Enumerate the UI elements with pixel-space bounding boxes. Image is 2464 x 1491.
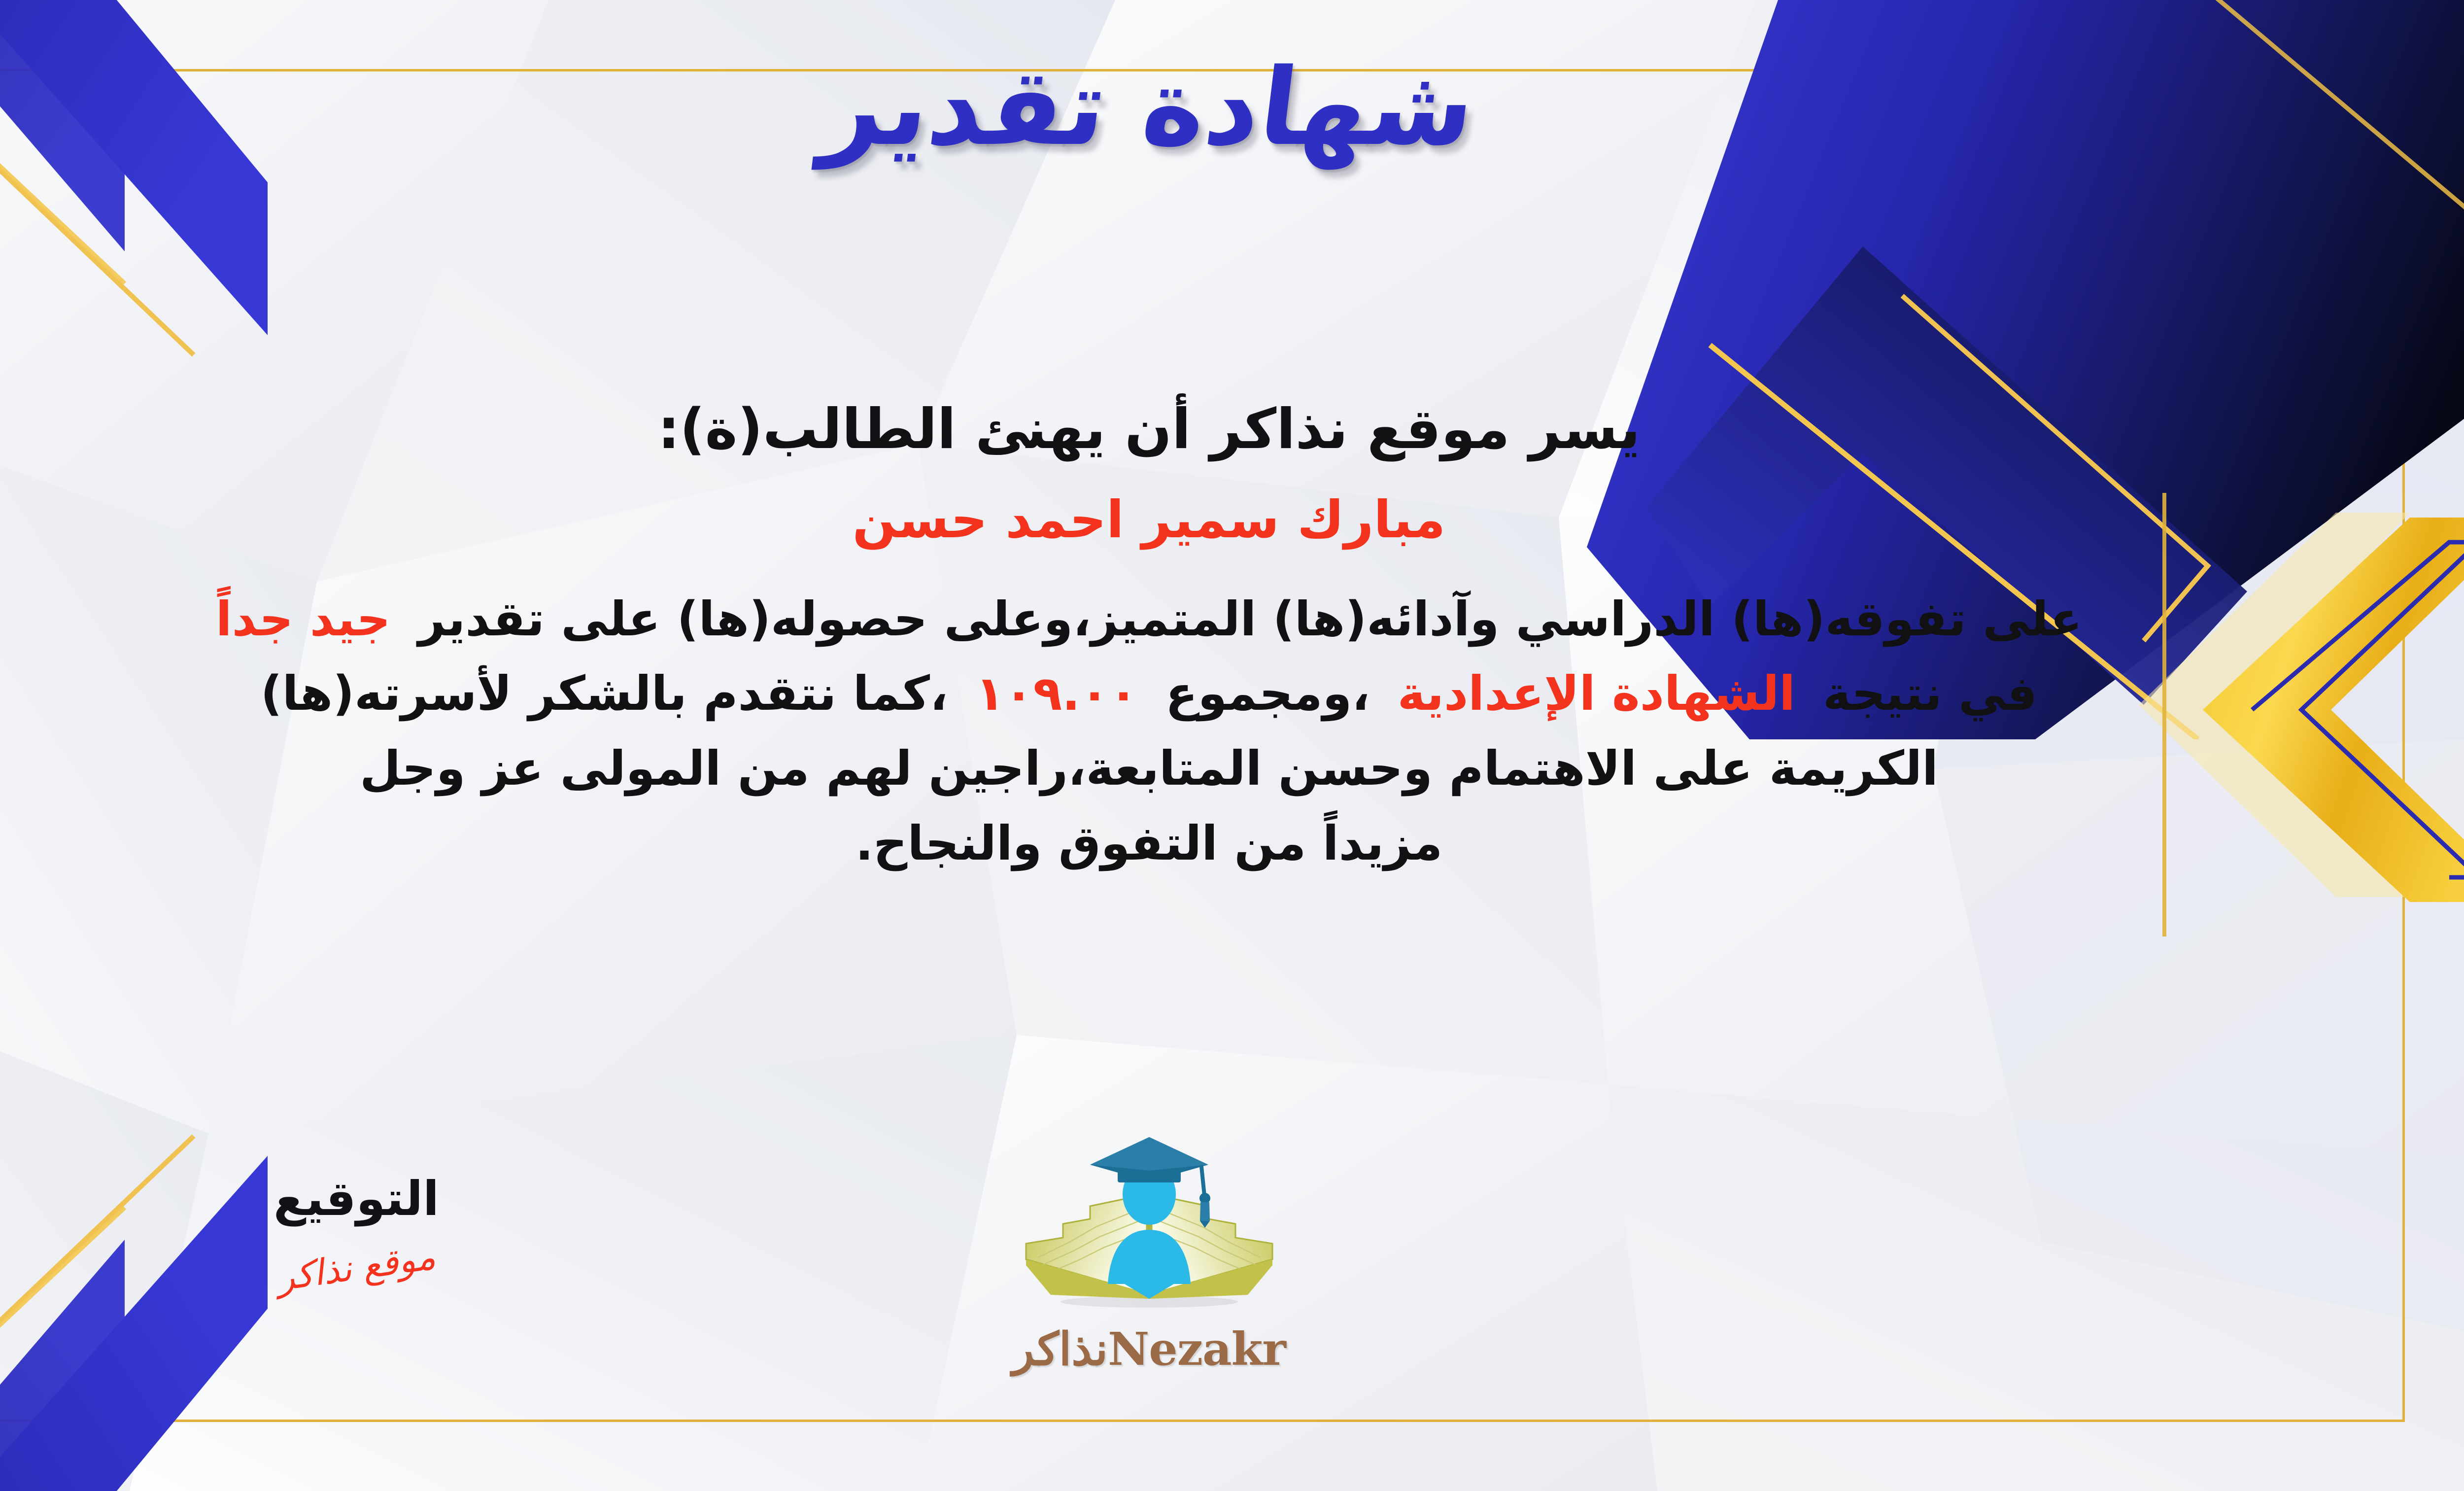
- intro-line: يسر موقع نذاكر أن يهنئ الطالب(ة):: [0, 394, 2331, 465]
- family-thanks-text: الكريمة على الاهتمام وحسن المتابعة،راجين…: [360, 741, 1938, 796]
- grade-value: جيد جداً: [216, 591, 391, 647]
- certificate-body: يسر موقع نذاكر أن يهنئ الطالب(ة): مبارك …: [0, 394, 2331, 881]
- signature-mark: موقع نذاكر: [274, 1237, 438, 1298]
- signature-block: التوقيع موقع نذاكر: [199, 1171, 514, 1287]
- achievement-text: على تفوقه(ها) الدراسي وآدائه(ها) المتميز…: [418, 591, 2083, 647]
- brand-logo-text: Nezakrنذاكر: [962, 1322, 1336, 1376]
- signature-label: التوقيع: [199, 1171, 514, 1227]
- award-paragraph: على تفوقه(ها) الدراسي وآدائه(ها) المتميز…: [0, 582, 2331, 881]
- certificate-title-area: شهادة تقدير: [0, 52, 2464, 163]
- paragraph-line-4: مزيداً من التفوق والنجاح.: [0, 806, 2331, 881]
- brand-logo: Nezakrنذاكر: [962, 1136, 1336, 1376]
- total-score: ١٠٩.٠٠: [975, 666, 1137, 721]
- paragraph-line-2: في نتيجةالشهادة الإعدادية،ومجموع١٠٩.٠٠،ك…: [0, 657, 2331, 731]
- thanks-text: ،كما نتقدم بالشكر لأسرته(ها): [261, 666, 948, 721]
- student-name: مبارك سمير احمد حسن: [0, 486, 2331, 553]
- result-prefix: في نتيجة: [1823, 666, 2037, 721]
- total-label: ،ومجموع: [1165, 666, 1370, 721]
- closing-wish-text: مزيداً من التفوق والنجاح.: [856, 816, 1443, 871]
- certificate-canvas: شهادة تقدير يسر موقع نذاكر أن يهنئ الطال…: [0, 0, 2464, 1491]
- certificate-type: الشهادة الإعدادية: [1398, 666, 1795, 721]
- brand-name-latin: Nezakr: [1108, 1322, 1286, 1376]
- paragraph-line-3: الكريمة على الاهتمام وحسن المتابعة،راجين…: [0, 731, 2331, 806]
- certificate-footer: التوقيع موقع نذاكر: [0, 1131, 2405, 1407]
- page-title: شهادة تقدير: [817, 52, 1481, 163]
- brand-name-arabic: نذاكر: [1012, 1322, 1108, 1376]
- paragraph-line-1: على تفوقه(ها) الدراسي وآدائه(ها) المتميز…: [0, 582, 2331, 657]
- graduate-book-icon: [1011, 1136, 1287, 1318]
